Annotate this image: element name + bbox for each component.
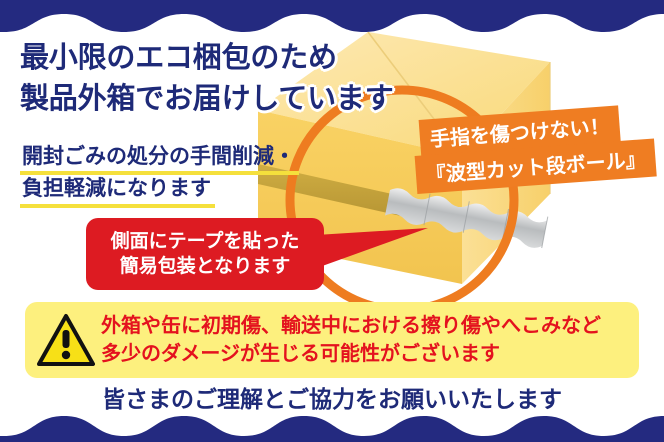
eco-packaging-notice-banner: 最小限のエコ梱包のため 製品外箱でお届けしています 開封ごみの処分の手間削減・ …	[0, 0, 664, 442]
subcopy-row-1: 開封ごみの処分の手間削減・	[22, 142, 295, 174]
damage-warning-box: 外箱や缶に初期傷、輸送中における擦り傷やへこみなど 多少のダメージが生じる可能性…	[25, 302, 639, 378]
headline-line-2: 製品外箱でお届けしています	[20, 79, 394, 120]
headline-line-1: 最小限のエコ梱包のため	[20, 38, 394, 79]
simple-packaging-callout: 側面にテープを貼った 簡易包装となります	[86, 218, 324, 290]
subcopy-line-2: 負担軽減になります	[22, 174, 211, 206]
warning-line-1: 外箱や缶に初期傷、輸送中における擦り傷やへこみなど	[101, 312, 601, 340]
red-callout-line-1: 側面にテープを貼った	[111, 229, 300, 254]
subcopy-line-1: 開封ごみの処分の手間削減・	[22, 142, 295, 174]
subcopy: 開封ごみの処分の手間削減・ 負担軽減になります	[22, 142, 295, 207]
warning-triangle-icon	[37, 313, 95, 367]
red-callout-line-2: 簡易包装となります	[120, 254, 290, 279]
warning-line-2: 多少のダメージが生じる可能性がございます	[101, 340, 601, 368]
subcopy-row-2: 負担軽減になります	[22, 174, 295, 206]
page-title: 最小限のエコ梱包のため 製品外箱でお届けしています	[20, 38, 394, 120]
footer-message: 皆さまのご理解とご協力をお願いいたします	[0, 380, 664, 414]
warning-text: 外箱や缶に初期傷、輸送中における擦り傷やへこみなど 多少のダメージが生じる可能性…	[101, 312, 601, 369]
